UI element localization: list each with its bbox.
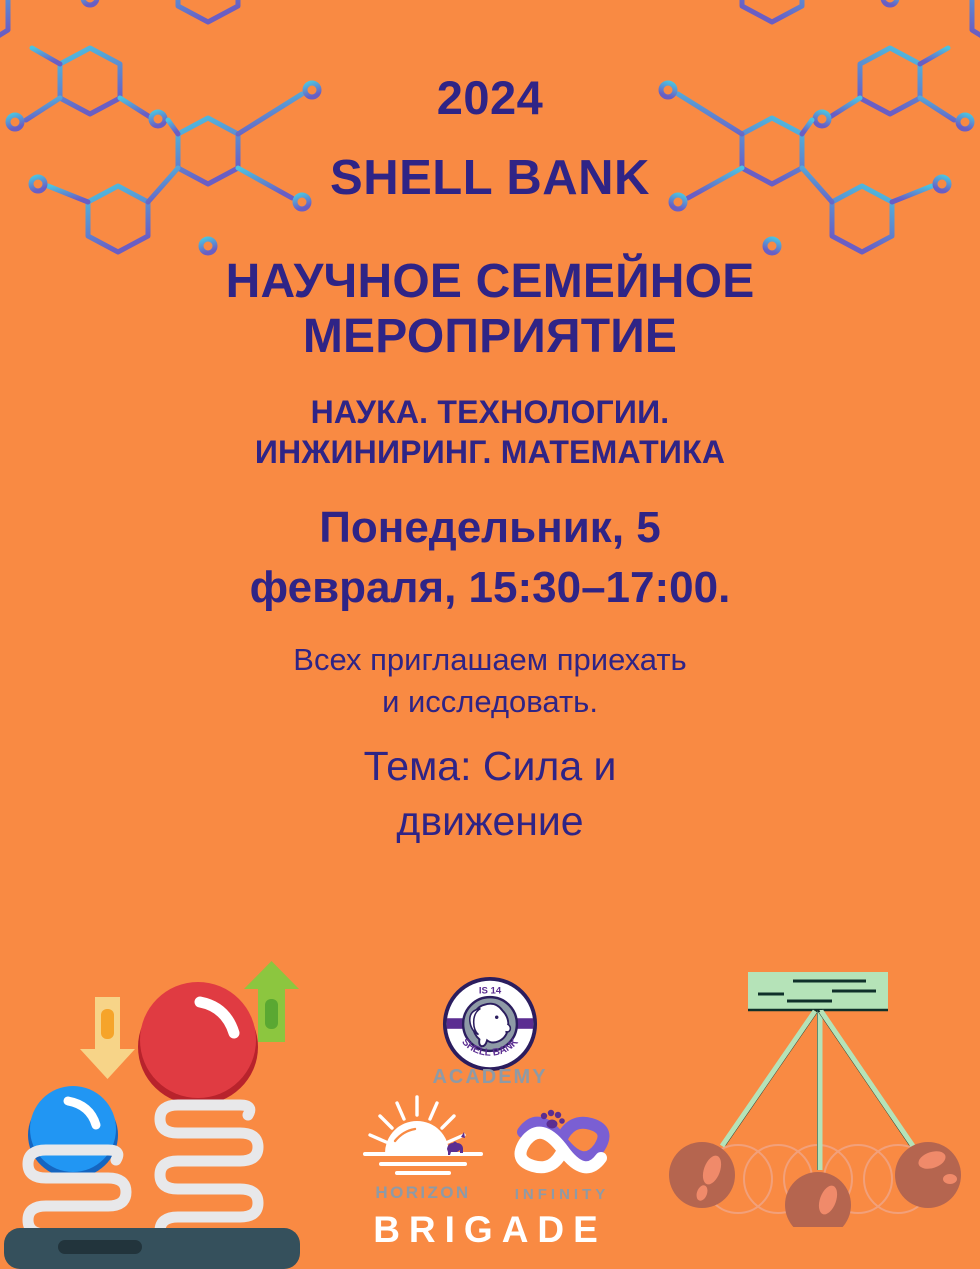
event-datetime-line-2: февраля, 15:30–17:00.: [160, 558, 820, 617]
horizon-logo-group: HORIZON: [359, 1093, 487, 1203]
infinity-loop-icon: [503, 1096, 621, 1188]
infinity-logo-label: INFINITY: [515, 1186, 610, 1203]
footer-logo-stack: IS 14 SHELL BANK ACADEMY: [0, 976, 980, 1251]
academy-caption: ACADEMY: [432, 1066, 547, 1089]
badge-top-text: IS 14: [479, 985, 502, 996]
infinity-logo-group: INFINITY: [503, 1096, 621, 1203]
event-year: 2024: [0, 74, 980, 121]
brigade-wordmark: BRIGADE: [373, 1209, 607, 1251]
page-title-line-1: НАУЧНОЕ СЕМЕЙНОЕ: [120, 255, 860, 310]
page-subtitle: НАУКА. ТЕХНОЛОГИИ. ИНЖИНИРИНГ. МАТЕМАТИК…: [0, 392, 980, 472]
page-subtitle-line-1: НАУКА. ТЕХНОЛОГИИ.: [130, 392, 850, 432]
invitation-text: Всех приглашаем приехать и исследовать.: [0, 639, 980, 723]
organisation-name: SHELL BANK: [0, 154, 980, 203]
poster-text-content: 2024 SHELL BANK НАУЧНОЕ СЕМЕЙНОЕ МЕРОПРИ…: [0, 0, 980, 850]
invitation-line-1: Всех приглашаем приехать: [180, 639, 800, 681]
event-theme: Тема: Сила и движение: [0, 739, 980, 850]
event-datetime: Понедельник, 5 февраля, 15:30–17:00.: [0, 498, 980, 617]
shell-bank-academy-badge-icon: IS 14 SHELL BANK: [442, 976, 538, 1072]
poster-canvas: 2024 SHELL BANK НАУЧНОЕ СЕМЕЙНОЕ МЕРОПРИ…: [0, 0, 980, 1269]
page-title-line-2: МЕРОПРИЯТИЕ: [120, 310, 860, 365]
event-datetime-line-1: Понедельник, 5: [160, 498, 820, 557]
horizon-dog-icon: [447, 1132, 465, 1155]
page-title: НАУЧНОЕ СЕМЕЙНОЕ МЕРОПРИЯТИЕ: [0, 255, 980, 364]
event-theme-line-2: движение: [250, 794, 730, 849]
event-theme-line-1: Тема: Сила и: [250, 739, 730, 794]
invitation-line-2: и исследовать.: [180, 681, 800, 723]
page-subtitle-line-2: ИНЖИНИРИНГ. МАТЕМАТИКА: [130, 432, 850, 472]
sub-logos-row: HORIZON INFINITY: [359, 1093, 621, 1203]
horizon-logo-label: HORIZON: [375, 1183, 470, 1203]
horizon-sunrise-icon: [359, 1093, 487, 1185]
